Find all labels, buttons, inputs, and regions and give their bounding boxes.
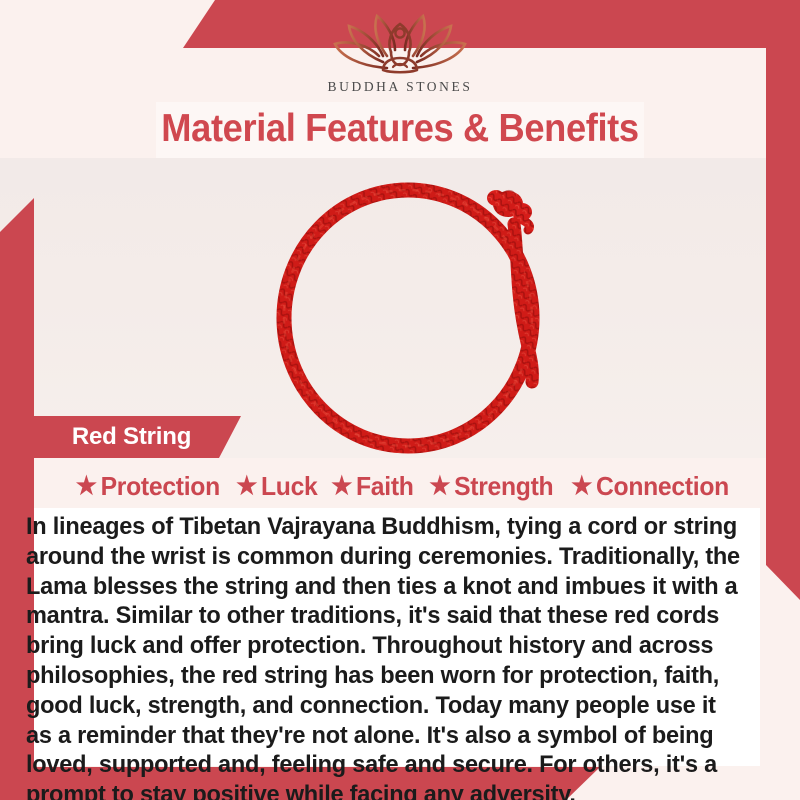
page-title: Material Features & Benefits	[28, 100, 772, 158]
star-icon: ★	[76, 474, 97, 499]
star-icon: ★	[236, 474, 257, 499]
feature-item-luck: ★ Luck	[231, 471, 322, 502]
feature-item-strength: ★ Strength	[425, 471, 559, 502]
feature-label: Luck	[261, 471, 318, 502]
description-text: In lineages of Tibetan Vajrayana Buddhis…	[26, 512, 744, 800]
feature-list: ★ Protection ★ Luck ★ Faith ★ Strength ★…	[30, 466, 775, 506]
star-icon: ★	[429, 474, 450, 499]
star-icon: ★	[332, 474, 353, 499]
product-image-red-string-bracelet	[256, 168, 566, 460]
feature-label: Connection	[596, 471, 729, 502]
feature-item-faith: ★ Faith	[327, 471, 419, 502]
feature-label: Protection	[101, 471, 220, 502]
lotus-meditation-icon	[325, 12, 475, 78]
star-icon: ★	[571, 474, 592, 499]
product-name-label: Red String	[26, 416, 219, 458]
feature-label: Faith	[356, 471, 414, 502]
product-infographic-poster: BUDDHA STONES Material Features & Benefi…	[0, 0, 800, 800]
brand-name: BUDDHA STONES	[328, 79, 473, 95]
feature-item-connection: ★ Connection	[566, 471, 733, 502]
feature-label: Strength	[454, 471, 553, 502]
feature-item-protection: ★ Protection	[71, 471, 225, 502]
brand-logo: BUDDHA STONES	[0, 12, 800, 102]
